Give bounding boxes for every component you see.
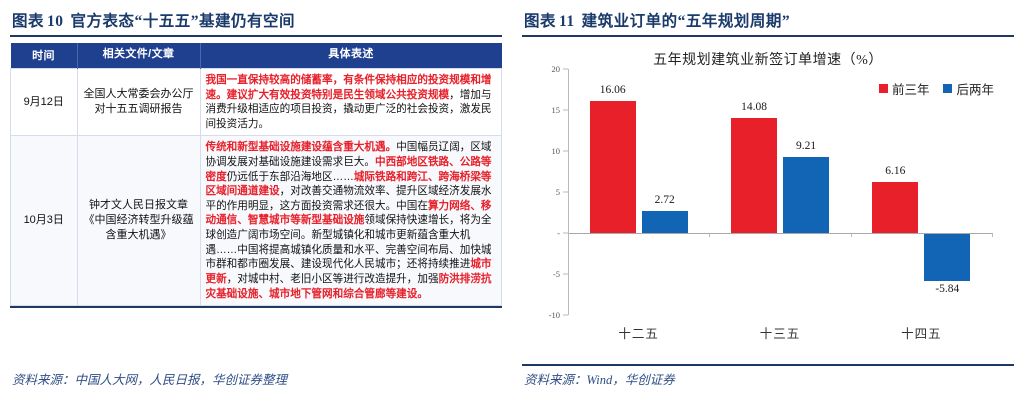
cell-date: 9月12日 bbox=[11, 69, 78, 136]
table-head: 时间 相关文件/文章 具体表述 bbox=[11, 43, 502, 69]
table-body: 9月12日 全国人大常委会办公厅对十五五调研报告 我国一直保持较高的储蓄率，有条… bbox=[11, 69, 502, 306]
x-axis-label-十三五: 十三五 bbox=[760, 323, 801, 342]
y-axis-tick-label: -10 bbox=[526, 310, 560, 320]
bar-value-label: 2.72 bbox=[655, 194, 675, 206]
zero-baseline bbox=[568, 233, 992, 234]
x-axis-label-十二五: 十二五 bbox=[618, 323, 659, 342]
bar-value-label: 6.16 bbox=[885, 165, 905, 177]
column-header-time: 时间 bbox=[11, 43, 78, 69]
figure-11-caption: 图表11建筑业订单的“五年规划周期” bbox=[522, 8, 1014, 35]
body-text: ，对城中村、老旧小区等进行改造提升，加强 bbox=[227, 273, 439, 285]
cell-description: 传统和新型基础设施建设蕴含重大机遇。中国幅员辽阔，区域协调发展对基础设施建设需求… bbox=[200, 136, 502, 306]
bar-十三五-后两年 bbox=[783, 157, 829, 233]
bar-十二五-后两年 bbox=[642, 211, 688, 233]
figure-11-label: 图表 bbox=[524, 13, 556, 30]
bar-十二五-前三年 bbox=[590, 101, 636, 233]
bar-十四五-后两年 bbox=[924, 233, 970, 281]
cell-date: 10月3日 bbox=[11, 136, 78, 306]
bar-value-label: 9.21 bbox=[796, 140, 816, 152]
left-source-note: 资料来源：中国人大网，人民日报，华创证券整理 bbox=[12, 369, 287, 388]
column-header-description: 具体表述 bbox=[200, 43, 502, 69]
figure-11-caption-rule bbox=[522, 35, 1014, 37]
x-axis-tick-mark bbox=[992, 233, 993, 237]
x-axis-tick-mark bbox=[851, 233, 852, 237]
figure-10-label: 图表 bbox=[12, 13, 44, 30]
y-axis-tick-label: 10 bbox=[526, 146, 560, 156]
cell-document: 钟才文人民日报文章《中国经济转型升级蕴含重大机遇》 bbox=[77, 136, 200, 306]
x-axis-label-十四五: 十四五 bbox=[901, 323, 942, 342]
bar-十三五-前三年 bbox=[731, 118, 777, 233]
table-header-row: 时间 相关文件/文章 具体表述 bbox=[11, 43, 502, 69]
y-axis-tick-label: 20 bbox=[526, 64, 560, 74]
column-header-document: 相关文件/文章 bbox=[77, 43, 200, 69]
figure-10-title: 官方表态“十五五”基建仍有空间 bbox=[71, 13, 296, 30]
policy-statements-table: 时间 相关文件/文章 具体表述 9月12日 全国人大常委会办公厅对十五五调研报告… bbox=[10, 43, 502, 306]
bar-value-label: -5.84 bbox=[935, 283, 959, 295]
right-source-rule bbox=[522, 364, 1014, 366]
bar-十四五-前三年 bbox=[872, 182, 918, 233]
highlighted-text: 传统和新型基础设施建设蕴含重大机遇。 bbox=[206, 141, 397, 153]
figure-10-number: 10 bbox=[44, 13, 71, 30]
body-text: 仍远低于东部沿海地区…… bbox=[227, 171, 354, 183]
y-axis-tick-label: -5 bbox=[526, 269, 560, 279]
cell-description: 我国一直保持较高的储蓄率，有条件保持相应的投资规模和增速。建议扩大有效投资特别是… bbox=[200, 69, 502, 136]
left-figure-panel: 图表10官方表态“十五五”基建仍有空间 时间 相关文件/文章 具体表述 9月12… bbox=[0, 0, 512, 400]
figure-11-title: 建筑业订单的“五年规划周期” bbox=[582, 13, 791, 30]
x-axis-tick-mark bbox=[709, 233, 710, 237]
figure-10-caption-rule bbox=[10, 35, 502, 37]
table-row: 10月3日 钟才文人民日报文章《中国经济转型升级蕴含重大机遇》 传统和新型基础设… bbox=[11, 136, 502, 306]
x-axis-tick-mark bbox=[568, 233, 569, 237]
right-figure-panel: 图表11建筑业订单的“五年规划周期” 五年规划建筑业新签订单增速（%） 前三年 … bbox=[512, 0, 1024, 400]
y-axis-tick-label: - bbox=[526, 228, 560, 238]
table-bottom-rule bbox=[10, 306, 502, 308]
figure-10-caption: 图表10官方表态“十五五”基建仍有空间 bbox=[10, 8, 502, 35]
bar-chart: 五年规划建筑业新签订单增速（%） 前三年 后两年 2015105--5-10 1… bbox=[522, 43, 1014, 343]
right-source-note: 资料来源：Wind，华创证券 bbox=[524, 369, 675, 388]
plot-area: 16.062.7214.089.216.16-5.84 bbox=[568, 69, 992, 315]
cell-document: 全国人大常委会办公厅对十五五调研报告 bbox=[77, 69, 200, 136]
y-axis-tick-label: 5 bbox=[526, 187, 560, 197]
table-row: 9月12日 全国人大常委会办公厅对十五五调研报告 我国一直保持较高的储蓄率，有条… bbox=[11, 69, 502, 136]
figure-pair-page: 图表10官方表态“十五五”基建仍有空间 时间 相关文件/文章 具体表述 9月12… bbox=[0, 0, 1024, 400]
y-axis-tick-label: 15 bbox=[526, 105, 560, 115]
chart-title: 五年规划建筑业新签订单增速（%） bbox=[522, 49, 1014, 69]
bar-value-label: 14.08 bbox=[741, 101, 767, 113]
figure-11-number: 11 bbox=[556, 13, 582, 30]
bar-value-label: 16.06 bbox=[600, 84, 626, 96]
